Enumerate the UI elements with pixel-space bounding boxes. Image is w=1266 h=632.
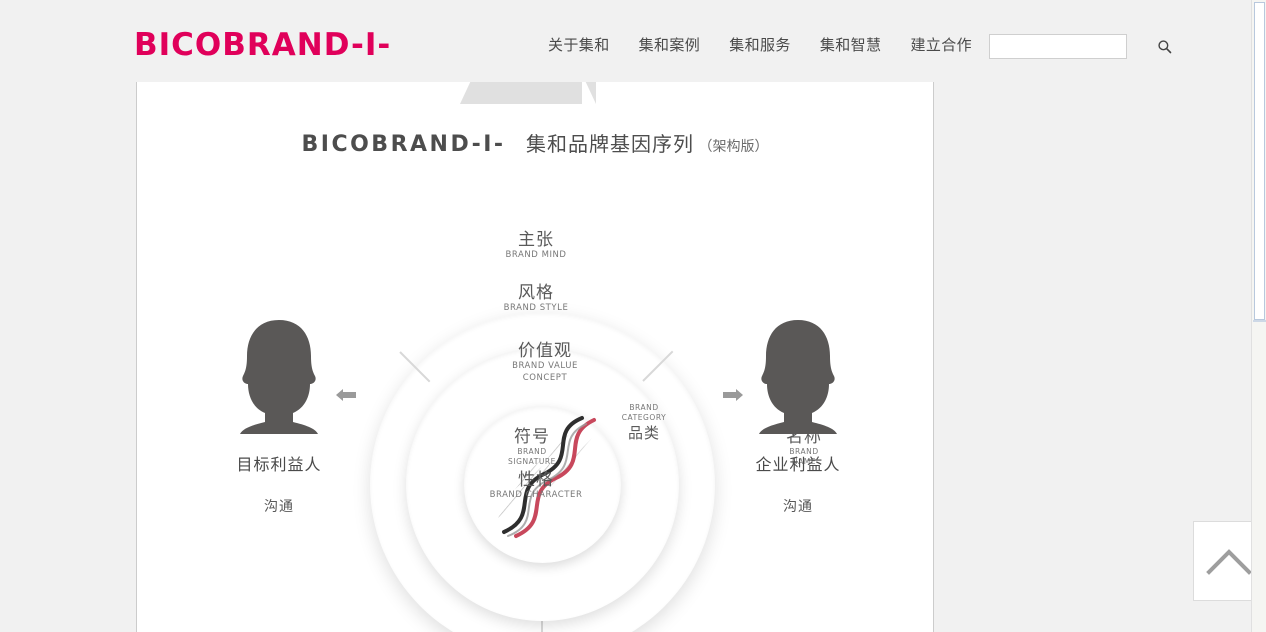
stakeholder-enterprise-sub: 沟通 [723, 496, 873, 516]
label-brand-mind-cn: 主张 [137, 230, 934, 249]
nav-item-services[interactable]: 集和服务 [729, 34, 791, 55]
stakeholder-target: 目标利益人 沟通 [204, 318, 354, 516]
scrollbar-thumb[interactable] [1254, 2, 1265, 320]
nav-item-cases[interactable]: 集和案例 [639, 34, 701, 55]
arrow-right-icon [722, 387, 744, 408]
label-brand-value-cn: 价值观 [492, 341, 598, 360]
label-brand-style-cn: 风格 [137, 283, 934, 302]
label-brand-category: BRAND CATEGORY 品类 [592, 402, 696, 443]
person-silhouette-icon [235, 318, 323, 436]
stakeholder-enterprise: 企业利益人 沟通 [723, 318, 873, 516]
scrollbar-marker [1253, 320, 1266, 322]
arrow-left-icon [335, 387, 357, 408]
person-silhouette-icon [754, 318, 842, 436]
label-brand-value-en1: BRAND VALUE [492, 362, 598, 372]
label-brand-signature-en2: SIGNATURE [482, 458, 582, 466]
nav-item-cooperation[interactable]: 建立合作 [910, 34, 972, 55]
site-header: BICOBRAND-I- 关于集和 集和案例 集和服务 集和智慧 建立合作 [0, 0, 1252, 82]
chevron-up-icon [1206, 546, 1252, 576]
label-brand-signature: 符号 BRAND SIGNATURE [482, 427, 582, 467]
vertical-scrollbar[interactable] [1251, 0, 1266, 632]
label-brand-category-en1: BRAND [592, 404, 696, 412]
nav-item-insights[interactable]: 集和智慧 [820, 34, 882, 55]
label-brand-mind-en: BRAND MIND [137, 251, 934, 261]
stakeholder-target-sub: 沟通 [204, 496, 354, 516]
label-brand-value: 价值观 BRAND VALUE CONCEPT [492, 341, 598, 383]
nav-item-about[interactable]: 关于集和 [548, 34, 610, 55]
label-brand-style-en: BRAND STYLE [137, 304, 934, 314]
search-icon [1157, 39, 1172, 54]
search-button[interactable] [1157, 35, 1172, 58]
label-brand-signature-en1: BRAND [482, 448, 582, 456]
content-card: BICOBRAND-I- 集和品牌基因序列 （架构版） [136, 82, 934, 632]
label-brand-style: 风格 BRAND STYLE [137, 283, 934, 314]
label-brand-category-en2: CATEGORY [592, 414, 696, 422]
page-root: BICOBRAND-I- 关于集和 集和案例 集和服务 集和智慧 建立合作 [0, 0, 1266, 632]
label-brand-category-cn: 品类 [592, 426, 696, 443]
stakeholder-target-name: 目标利益人 [204, 451, 354, 475]
site-logo[interactable]: BICOBRAND-I- [134, 27, 391, 63]
search-box[interactable] [989, 34, 1127, 59]
main-navigation: 关于集和 集和案例 集和服务 集和智慧 建立合作 [548, 34, 972, 55]
brand-gene-diagram: 主张 BRAND MIND 风格 BRAND STYLE 价值观 BRAND V… [137, 82, 934, 632]
label-brand-mind: 主张 BRAND MIND [137, 230, 934, 261]
stakeholder-enterprise-name: 企业利益人 [723, 451, 873, 475]
label-brand-value-en2: CONCEPT [492, 374, 598, 384]
label-brand-signature-cn: 符号 [482, 427, 582, 446]
search-input[interactable] [990, 35, 1157, 58]
